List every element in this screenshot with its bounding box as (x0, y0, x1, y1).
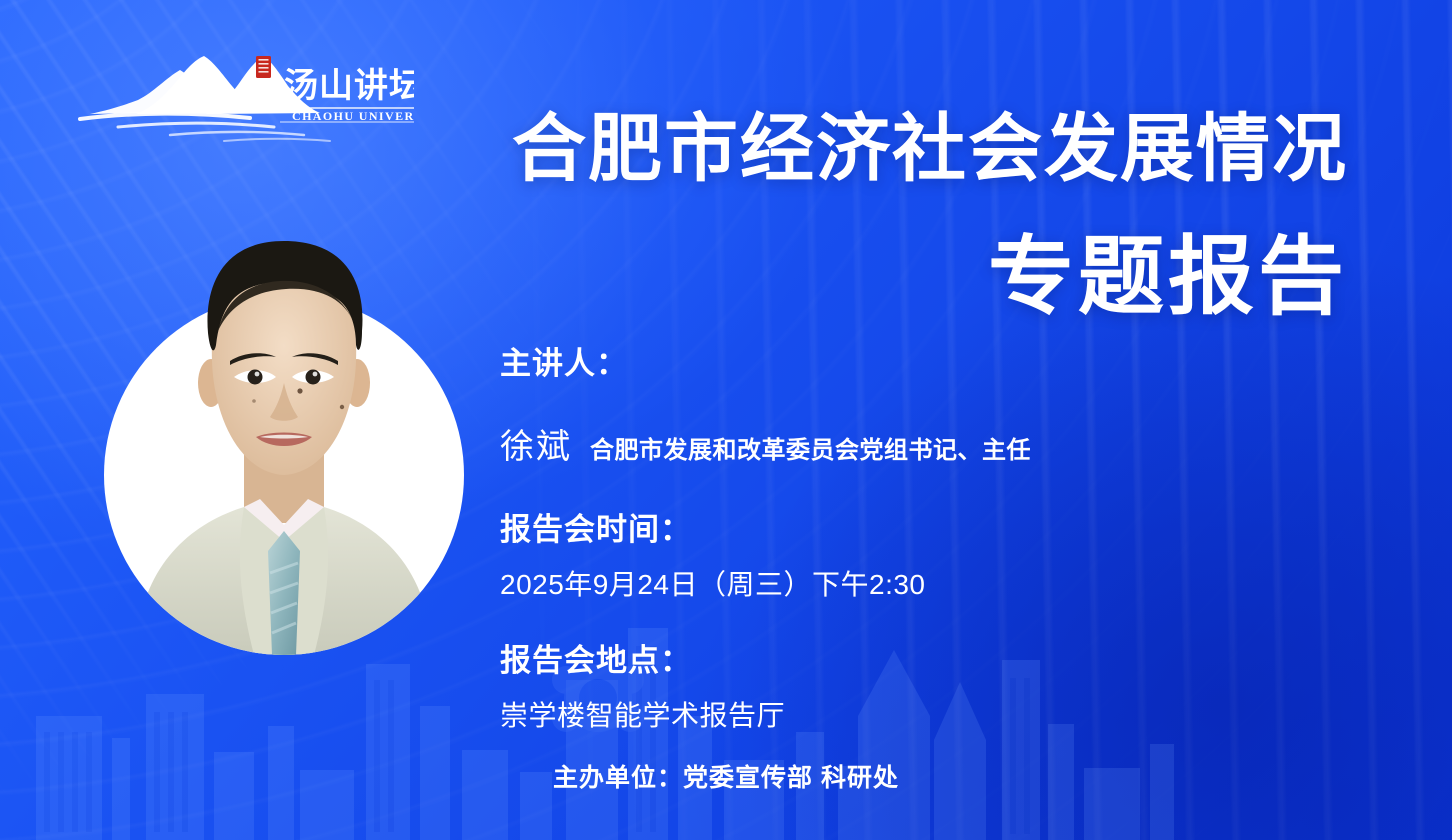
portrait-photo (104, 225, 464, 655)
speaker-name: 徐斌 (500, 419, 572, 468)
headline-line-1: 合肥市经济社会发展情况 (512, 112, 1348, 186)
venue-value: 崇学楼智能学术报告厅 (500, 702, 1360, 730)
time-label: 报告会时间： (500, 514, 1360, 545)
organizers-footer: 主办单位：党委宣传部 科研处 (0, 758, 1452, 794)
time-value: 2025年9月24日（周三）下午2:30 (500, 571, 1360, 599)
speaker-title: 合肥市发展和改革委员会党组书记、主任 (590, 430, 1031, 465)
poster-canvas: 汤山讲坛 CHAOHU UNIVERSITY (0, 0, 1452, 840)
speaker-row: 徐斌 合肥市发展和改革委员会党组书记、主任 (500, 419, 1360, 468)
venue-label: 报告会地点： (500, 645, 1360, 676)
speaker-portrait (104, 225, 464, 655)
event-details: 主讲人： 徐斌 合肥市发展和改革委员会党组书记、主任 报告会时间： 2025年9… (500, 348, 1360, 730)
red-seal-icon (256, 56, 271, 78)
logo-subtitle-text: CHAOHU UNIVERSITY (292, 109, 414, 123)
speaker-label: 主讲人： (500, 348, 1360, 379)
headline-line-2: 专题报告 (512, 234, 1348, 320)
chaohu-university-logo: 汤山讲坛 CHAOHU UNIVERSITY (74, 52, 414, 144)
poster-headline: 合肥市经济社会发展情况 专题报告 (512, 112, 1348, 320)
logo-title-text: 汤山讲坛 (284, 66, 414, 106)
